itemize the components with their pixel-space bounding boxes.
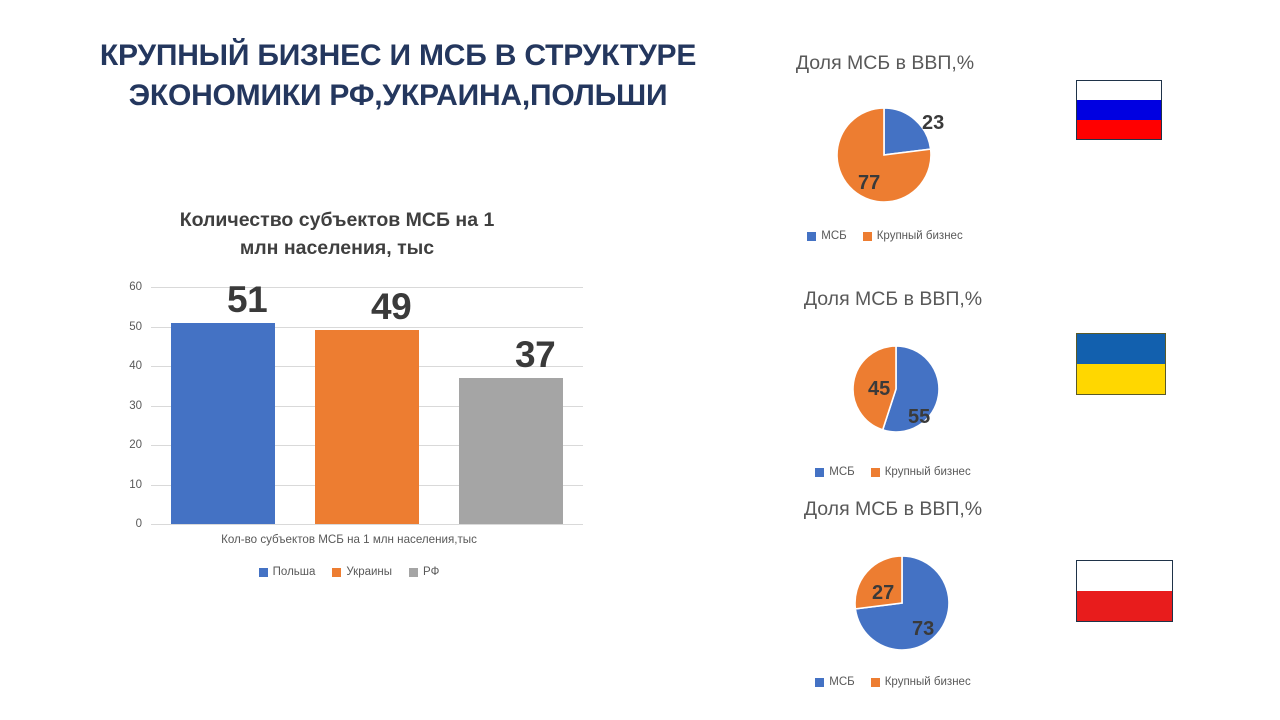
ukraine-flag bbox=[1076, 333, 1166, 395]
legend-label: Крупный бизнес bbox=[877, 230, 963, 242]
y-axis-tick-label: 10 bbox=[115, 479, 142, 491]
y-axis-tick-label: 0 bbox=[115, 518, 142, 530]
page-title-line-1: КРУПНЫЙ БИЗНЕС И МСБ В СТРУКТУРЕ bbox=[88, 36, 708, 76]
bar-chart-title: Количество субъектов МСБ на 1 млн населе… bbox=[122, 206, 552, 263]
pie-panel-poland: Доля МСБ в ВВП,% 7327 МСБКрупный бизнес bbox=[768, 498, 1018, 703]
flag-stripe bbox=[1077, 100, 1161, 119]
flag-stripe bbox=[1077, 334, 1165, 364]
gridline bbox=[151, 287, 583, 288]
pie-chart-poland: 7327 bbox=[852, 553, 952, 653]
legend-swatch-icon bbox=[409, 568, 418, 577]
legend-item: МСБ bbox=[807, 230, 846, 242]
y-axis-tick-label: 20 bbox=[115, 439, 142, 451]
legend-label: МСБ bbox=[829, 676, 854, 688]
bar bbox=[459, 378, 563, 524]
bar-chart: Количество субъектов МСБ на 1 млн населе… bbox=[82, 198, 592, 598]
bar bbox=[315, 330, 419, 524]
y-axis-tick-label: 30 bbox=[115, 400, 142, 412]
pie-chart-title-rf: Доля МСБ в ВВП,% bbox=[760, 52, 1010, 75]
bar-value-label: 51 bbox=[227, 281, 267, 318]
legend-swatch-icon bbox=[871, 678, 880, 687]
legend-item: Польша bbox=[259, 566, 316, 578]
pie-legend-poland: МСБКрупный бизнес bbox=[768, 676, 1018, 688]
legend-swatch-icon bbox=[863, 232, 872, 241]
pie-svg bbox=[834, 105, 934, 205]
pie-svg bbox=[852, 553, 952, 653]
y-axis-tick-label: 60 bbox=[115, 281, 142, 293]
legend-label: Крупный бизнес bbox=[885, 466, 971, 478]
pie-panel-rf: Доля МСБ в ВВП,% 2377 МСБКрупный бизнес bbox=[760, 52, 1010, 257]
russia-flag bbox=[1076, 80, 1162, 140]
bar-value-label: 49 bbox=[371, 288, 411, 325]
legend-swatch-icon bbox=[807, 232, 816, 241]
legend-swatch-icon bbox=[815, 468, 824, 477]
legend-label: МСБ bbox=[821, 230, 846, 242]
pie-chart-ukraine: 5545 bbox=[850, 343, 942, 435]
bar-chart-x-axis-label: Кол-во субъектов МСБ на 1 млн населения,… bbox=[115, 533, 583, 546]
legend-item: МСБ bbox=[815, 466, 854, 478]
pie-legend-ukraine: МСБКрупный бизнес bbox=[768, 466, 1018, 478]
legend-item: Крупный бизнес bbox=[863, 230, 963, 242]
legend-swatch-icon bbox=[871, 468, 880, 477]
bar-plot-area: 6050403020100514937 bbox=[115, 287, 583, 524]
pie-value-label: 77 bbox=[858, 173, 880, 193]
page-title-line-2: ЭКОНОМИКИ РФ,УКРАИНА,ПОЛЬШИ bbox=[88, 76, 708, 116]
pie-value-label: 23 bbox=[922, 113, 944, 133]
page-title: КРУПНЫЙ БИЗНЕС И МСБ В СТРУКТУРЕ ЭКОНОМИ… bbox=[88, 36, 708, 116]
pie-value-label: 27 bbox=[872, 583, 894, 603]
pie-legend-rf: МСБКрупный бизнес bbox=[760, 230, 1010, 242]
pie-value-label: 45 bbox=[868, 379, 890, 399]
flag-stripe bbox=[1077, 561, 1172, 591]
bar-chart-title-line-2: млн населения, тыс bbox=[240, 237, 434, 259]
flag-stripe bbox=[1077, 364, 1165, 394]
gridline bbox=[151, 524, 583, 525]
y-axis-tick-label: 40 bbox=[115, 360, 142, 372]
legend-item: Украины bbox=[332, 566, 392, 578]
pie-chart-rf: 2377 bbox=[834, 105, 934, 205]
poland-flag bbox=[1076, 560, 1173, 622]
legend-swatch-icon bbox=[259, 568, 268, 577]
legend-label: Польша bbox=[273, 566, 316, 578]
bar-chart-title-line-1: Количество субъектов МСБ на 1 bbox=[180, 209, 495, 231]
bar-chart-legend: ПольшаУкраиныРФ bbox=[115, 566, 583, 578]
legend-label: МСБ bbox=[829, 466, 854, 478]
bar-value-label: 37 bbox=[515, 336, 555, 373]
legend-item: МСБ bbox=[815, 676, 854, 688]
flag-stripe bbox=[1077, 591, 1172, 621]
flag-stripe bbox=[1077, 120, 1161, 139]
legend-label: Украины bbox=[346, 566, 392, 578]
bar bbox=[171, 323, 275, 524]
y-axis-tick-label: 50 bbox=[115, 321, 142, 333]
legend-label: Крупный бизнес bbox=[885, 676, 971, 688]
pie-panel-ukraine: Доля МСБ в ВВП,% 5545 МСБКрупный бизнес bbox=[768, 288, 1018, 493]
pie-chart-title-poland: Доля МСБ в ВВП,% bbox=[768, 498, 1018, 521]
pie-value-label: 55 bbox=[908, 407, 930, 427]
pie-value-label: 73 bbox=[912, 619, 934, 639]
legend-label: РФ bbox=[423, 566, 439, 578]
legend-item: РФ bbox=[409, 566, 439, 578]
flag-stripe bbox=[1077, 81, 1161, 100]
pie-chart-title-ukraine: Доля МСБ в ВВП,% bbox=[768, 288, 1018, 311]
legend-item: Крупный бизнес bbox=[871, 466, 971, 478]
legend-item: Крупный бизнес bbox=[871, 676, 971, 688]
legend-swatch-icon bbox=[332, 568, 341, 577]
legend-swatch-icon bbox=[815, 678, 824, 687]
